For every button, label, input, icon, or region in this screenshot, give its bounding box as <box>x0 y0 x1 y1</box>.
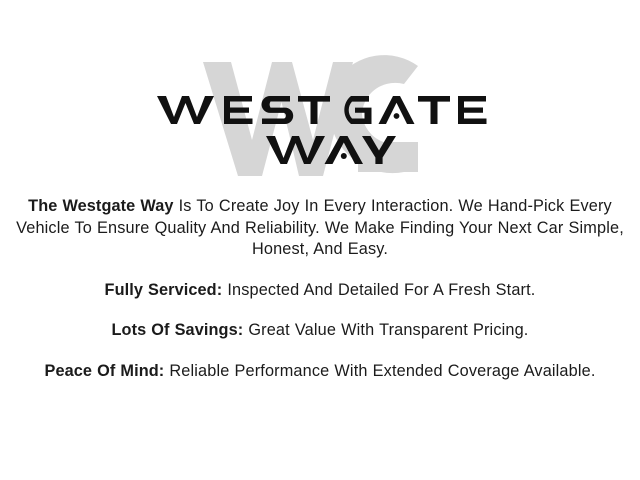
paragraph-lead: Lots Of Savings: <box>112 321 244 339</box>
paragraph-text: Reliable Performance With Extended Cover… <box>164 362 595 380</box>
paragraph-westgate-way-statement: The Westgate Way Is To Create Joy In Eve… <box>12 196 628 261</box>
paragraph-lead: Peace Of Mind: <box>45 362 165 380</box>
body-copy: The Westgate Way Is To Create Joy In Eve… <box>0 196 640 382</box>
paragraph-lead: Fully Serviced: <box>105 281 223 299</box>
paragraph-fully-serviced: Fully Serviced: Inspected And Detailed F… <box>12 280 628 302</box>
paragraph-peace-of-mind: Peace Of Mind: Reliable Performance With… <box>12 361 628 383</box>
paragraph-lead: The Westgate Way <box>28 197 173 215</box>
logo-lockup <box>0 0 640 185</box>
paragraph-lots-of-savings: Lots Of Savings: Great Value With Transp… <box>12 320 628 342</box>
paragraph-text: Inspected And Detailed For A Fresh Start… <box>222 281 535 299</box>
paragraph-text: Great Value With Transparent Pricing. <box>243 321 528 339</box>
advertisement-page: The Westgate Way Is To Create Joy In Eve… <box>0 0 640 480</box>
westgate-way-wordmark <box>0 0 640 185</box>
